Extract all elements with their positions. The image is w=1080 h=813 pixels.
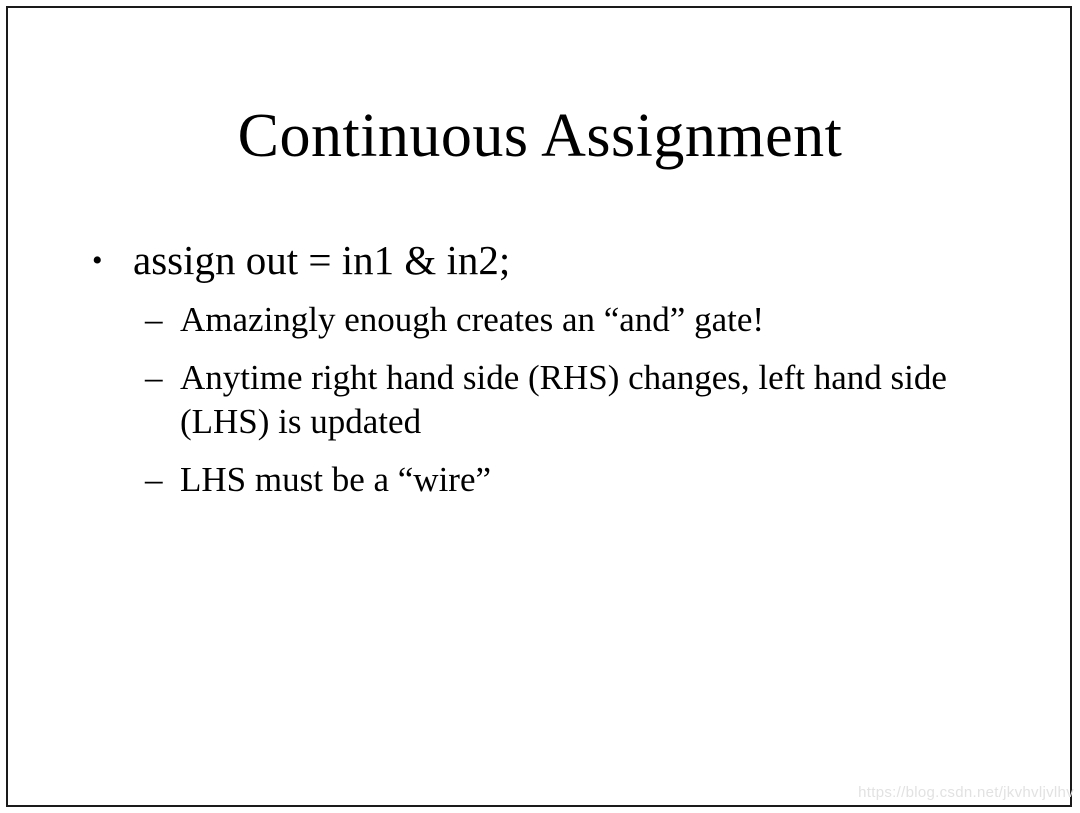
en-dash-bullet-icon: – [145,458,163,502]
list-item-text: assign out = in1 & in2; [133,237,510,283]
round-bullet-icon: • [92,238,103,283]
en-dash-bullet-icon: – [145,356,163,400]
watermark-text: https://blog.csdn.net/jkvhvljvlhv [858,784,1074,801]
list-item-text: LHS must be a “wire” [180,460,491,499]
page-title: Continuous Assignment [0,104,1080,169]
list-item: – LHS must be a “wire” [0,458,970,502]
list-item-text: Amazingly enough creates an “and” gate! [180,300,764,339]
slide-canvas: Continuous Assignment • assign out = in1… [0,0,1080,813]
list-item: • assign out = in1 & in2; [0,238,1000,284]
list-item-text: Anytime right hand side (RHS) changes, l… [180,358,947,441]
list-item: – Amazingly enough creates an “and” gate… [0,298,970,342]
bullet-list: • assign out = in1 & in2; – Amazingly en… [0,238,1000,502]
en-dash-bullet-icon: – [145,298,163,342]
list-item: – Anytime right hand side (RHS) changes,… [0,356,970,444]
